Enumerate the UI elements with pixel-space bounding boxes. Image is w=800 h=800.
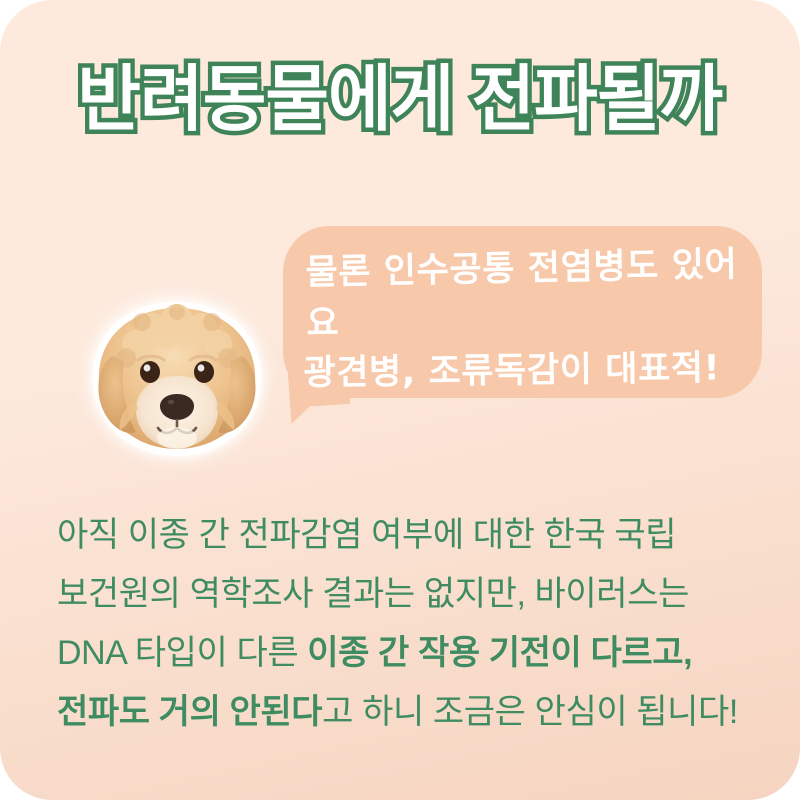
body-line-3-segment-2: 이종 간 작용 기전이 다르고,: [307, 634, 692, 672]
dog-photo: [82, 298, 272, 458]
body-line-1: 아직 이종 간 전파감염 여부에 대한 한국 국립: [57, 506, 757, 565]
body-line-2: 보건원의 역학조사 결과는 없지만, 바이러스는: [57, 565, 757, 624]
body-line-4-segment-2: 고 하니 조금은 안심이 됩니다!: [322, 693, 738, 731]
page-title-text: 반려동물에게 전파될까: [78, 62, 723, 140]
page-title: 반려동물에게 전파될까: [0, 62, 800, 140]
body-line-3-segment-1: DNA 타입이 다른: [57, 634, 307, 672]
body-paragraph: 아직 이종 간 전파감염 여부에 대한 한국 국립보건원의 역학조사 결과는 없…: [57, 506, 757, 742]
speech-bubble-line-1: 물론 인수공통 전염병도 있어요: [305, 240, 747, 351]
speech-bubble-text: 물론 인수공통 전염병도 있어요 광견병, 조류독감이 대표적!: [305, 240, 748, 402]
speech-bubble-line-2: 광견병, 조류독감이 대표적!: [303, 343, 744, 399]
body-line-4: 전파도 거의 안된다고 하니 조금은 안심이 됩니다!: [57, 683, 757, 742]
body-line-2-segment-1: 보건원의 역학조사 결과는 없지만, 바이러스는: [57, 575, 689, 613]
infographic-card: 반려동물에게 전파될까 물론 인수공통 전염병도 있어요 광견병, 조류독감이 …: [0, 0, 800, 800]
body-line-1-segment-1: 아직 이종 간 전파감염 여부에 대한 한국 국립: [57, 516, 676, 554]
body-line-3: DNA 타입이 다른 이종 간 작용 기전이 다르고,: [57, 624, 757, 683]
body-line-4-segment-1: 전파도 거의 안된다: [57, 693, 322, 731]
